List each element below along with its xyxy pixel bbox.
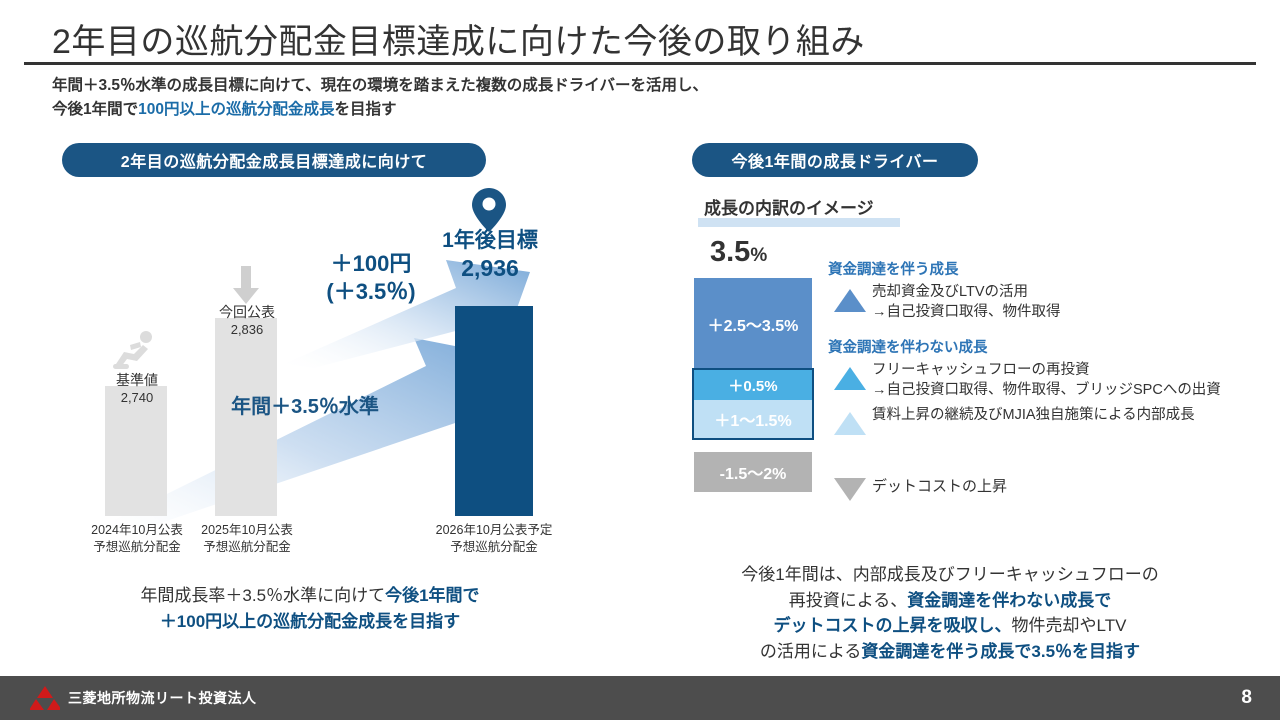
segment-financed-growth: ＋2.5〜3.5% [694,278,812,370]
left-summary-bold1: 今後1年間で [385,586,479,605]
lead-line-2: 今後1年間で100円以上の巡航分配金成長を目指す [52,98,952,122]
growth-driver-legend: 資金調達を伴う成長 売却資金及びLTVの活用 →自己投資口取得、物件取得 資金調… [828,258,1278,508]
right-summary: 今後1年間は、内部成長及びフリーキャッシュフローの 再投資による、資金調達を伴わ… [630,562,1270,664]
value-label-2025: 今回公表 2,836 [172,304,322,339]
lead-line-2-highlight: 100円以上の巡航分配金成長 [138,101,334,118]
right-panel: 成長の内訳のイメージ 3.5% ＋2.5〜3.5% ＋0.5% ＋1〜1.5% … [620,180,1280,660]
company-name: 三菱地所物流リート投資法人 [68,688,257,708]
legend-title-financed: 資金調達を伴う成長 [828,258,1278,279]
legend-title-non-financed: 資金調達を伴わない成長 [828,336,1278,357]
arrow-rate-label: 年間＋3.5％水準 [190,390,420,419]
axis-label-2025: 2025年10月公表 予想巡航分配金 [172,522,322,556]
section-header-left: 2年目の巡航分配金成長目標達成に向けて [62,143,486,177]
legend-item-1: 売却資金及びLTVの活用 →自己投資口取得、物件取得 [828,283,1278,322]
mitsubishi-logo-icon [30,685,60,711]
right-summary-line4-plain: の活用による [760,642,862,661]
axis-label-2026: 2026年10月公表予定 予想巡航分配金 [418,522,570,556]
triangle-up-icon [828,283,872,313]
legend-item-3: 賃料上昇の継続及びMJIA独自施策による内部成長 [828,406,1278,436]
page-title: 2年目の巡航分配金目標達成に向けた今後の取り組み [52,14,865,63]
left-summary-plain: 年間成長率＋3.5％水準に向けて [140,586,385,605]
axis-label-2026-line2: 予想巡航分配金 [418,539,570,556]
right-summary-line1: 今後1年間は、内部成長及びフリーキャッシュフローの [741,565,1158,584]
callout-percent: (＋3.5％) [296,278,446,306]
title-divider [24,62,1256,65]
triangle-down-icon [828,472,872,502]
callout-amount: ＋100円 [296,250,446,278]
slide: 2年目の巡航分配金目標達成に向けた今後の取り組み 年間＋3.5％水準の成長目標に… [0,0,1280,720]
runner-icon [110,330,158,370]
segment-debt-cost: -1.5〜2% [694,452,812,492]
lead-line-2-suffix: を目指す [335,101,397,118]
legend-item-1-line1: 売却資金及びLTVの活用 [872,284,1028,300]
growth-callout: ＋100円 (＋3.5％) [296,250,446,305]
triangle-up-icon [828,361,872,391]
lead-line-2-prefix: 今後1年間で [52,101,138,118]
down-arrow-icon [232,266,260,306]
value-name-2025: 今回公表 [172,304,322,321]
right-summary-line3-bold: デットコストの上昇を吸収し、 [774,616,1012,635]
legend-item-2-text: フリーキャッシュフローの再投資 →自己投資口取得、物件取得、ブリッジSPCへの出… [872,361,1221,400]
section-header-right: 今後1年間の成長ドライバー [692,143,978,177]
stacked-bar: ＋2.5〜3.5% ＋0.5% ＋1〜1.5% -1.5〜2% [694,278,812,492]
legend-item-debt-text: デットコストの上昇 [872,477,1007,497]
segment-fcf-reinvestment: ＋0.5% [694,370,812,400]
left-panel: 基準値 2,740 今回公表 2,836 1年後目標 2,936 ＋100円 (… [0,180,620,660]
legend-item-debt: デットコストの上昇 [828,472,1278,502]
left-summary-bold2: ＋100円以上の巡航分配金成長を目指す [160,612,460,631]
right-summary-line4-bold: 資金調達を伴う成長で3.5％を目指す [861,642,1140,661]
legend-item-2: フリーキャッシュフローの再投資 →自己投資口取得、物件取得、ブリッジSPCへの出… [828,361,1278,400]
total-growth-number: 3.5 [710,236,750,268]
right-summary-line2-bold: 資金調達を伴わない成長で [907,591,1111,610]
legend-item-2-line1: フリーキャッシュフローの再投資 [872,362,1090,378]
segment-internal-growth: ＋1〜1.5% [694,400,812,438]
total-growth-rate: 3.5% [710,236,767,269]
value-number-2025: 2,836 [172,321,322,339]
map-pin-icon [472,188,506,232]
right-summary-line2-plain: 再投資による、 [789,591,908,610]
bar-2026 [455,306,533,516]
legend-item-3-text: 賃料上昇の継続及びMJIA独自施策による内部成長 [872,406,1195,426]
total-growth-unit: % [750,245,767,266]
lead-paragraph: 年間＋3.5％水準の成長目標に向けて、現在の環境を踏まえた複数の成長ドライバーを… [52,74,952,122]
axis-label-2025-line2: 予想巡航分配金 [172,539,322,556]
right-summary-line3-plain: 物件売却やLTV [1012,616,1127,635]
value-name-2024: 基準値 [62,372,212,389]
sub-head-underline [698,218,900,227]
left-summary: 年間成長率＋3.5％水準に向けて今後1年間で ＋100円以上の巡航分配金成長を目… [60,583,560,634]
breakdown-heading: 成長の内訳のイメージ [704,194,874,219]
axis-label-2025-line1: 2025年10月公表 [172,522,322,539]
axis-label-2026-line1: 2026年10月公表予定 [418,522,570,539]
stack-spacer [694,438,812,452]
legend-item-1-text: 売却資金及びLTVの活用 →自己投資口取得、物件取得 [872,283,1061,322]
triangle-up-icon [828,406,872,436]
lead-line-1: 年間＋3.5％水準の成長目標に向けて、現在の環境を踏まえた複数の成長ドライバーを… [52,74,952,98]
legend-item-1-line2: →自己投資口取得、物件取得 [872,304,1061,320]
slide-footer: 三菱地所物流リート投資法人 8 [0,676,1280,720]
page-number: 8 [1241,687,1252,709]
legend-item-2-line2: →自己投資口取得、物件取得、ブリッジSPCへの出資 [872,382,1221,398]
